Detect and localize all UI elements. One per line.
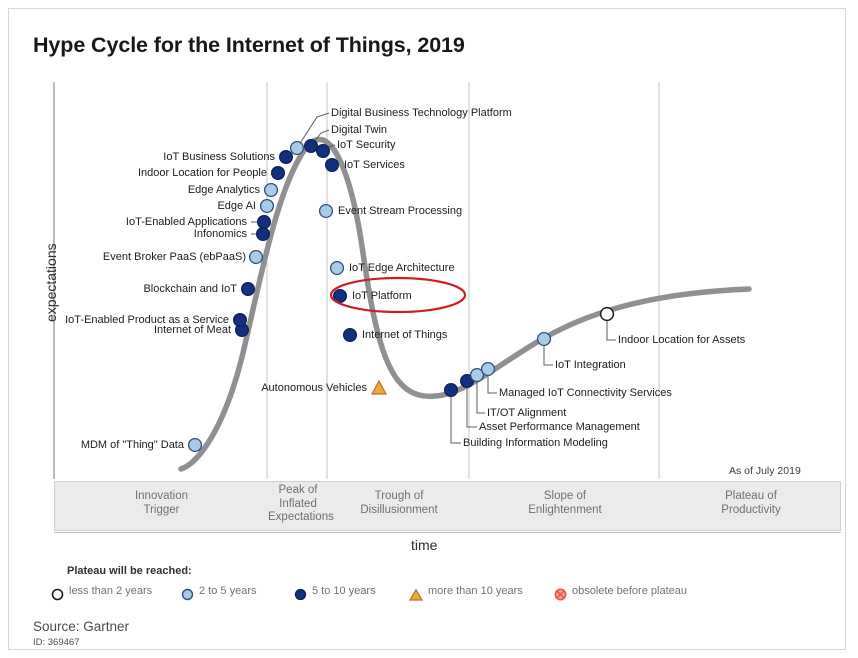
point-digital-twin xyxy=(305,140,318,153)
phase-slope-of-enlightenment: Slope of Enlightenment xyxy=(470,490,660,517)
hype-cycle-screenshot: Hype Cycle for the Internet of Things, 2… xyxy=(0,0,858,658)
point-iot-edge-architecture xyxy=(331,262,344,275)
page-title: Hype Cycle for the Internet of Things, 2… xyxy=(33,33,465,58)
legend-item-2-to-5-years: 2 to 5 years xyxy=(181,588,256,601)
point-edge-analytics xyxy=(265,184,278,197)
legend-item-obsolete-before-plateau: obsolete before plateau xyxy=(554,588,687,601)
circle-dark-icon xyxy=(294,588,307,601)
plot-area: expectations Digital Business Technology… xyxy=(29,77,841,547)
label-event-stream-processing: Event Stream Processing xyxy=(338,206,462,217)
point-event-broker-paas xyxy=(250,251,263,264)
label-edge-analytics: Edge Analytics xyxy=(29,185,260,196)
label-infonomics: Infonomics xyxy=(29,229,247,240)
point-blockchain-and-iot xyxy=(242,283,255,296)
point-iot-enabled-applications xyxy=(258,216,271,229)
label-iot-services: IoT Services xyxy=(344,160,405,171)
label-indoor-location-for-assets: Indoor Location for Assets xyxy=(618,335,745,346)
label-it-ot-alignment: IT/OT Alignment xyxy=(487,408,566,419)
label-blockchain-and-iot: Blockchain and IoT xyxy=(29,284,237,295)
point-managed-iot-connectivity-services xyxy=(482,363,495,376)
label-iot-enabled-applications: IoT-Enabled Applications xyxy=(29,217,247,228)
label-managed-iot-connectivity-services: Managed IoT Connectivity Services xyxy=(499,388,672,399)
label-internet-of-meat: Internet of Meat xyxy=(29,325,231,336)
label-autonomous-vehicles: Autonomous Vehicles xyxy=(244,383,367,394)
circle-hollow-icon xyxy=(51,588,64,601)
label-mdm-of-thing-data: MDM of "Thing" Data xyxy=(29,440,184,451)
point-mdm-of-thing-data xyxy=(189,439,202,452)
legend-title: Plateau will be reached: xyxy=(67,565,192,577)
point-iot-enabled-product-as-a-service xyxy=(234,314,247,327)
legend-item-more-than-10-years: more than 10 years xyxy=(409,588,523,601)
point-edge-ai xyxy=(261,200,274,213)
legend-item-less-than-2-years: less than 2 years xyxy=(51,588,152,601)
circle-light-icon xyxy=(181,588,194,601)
point-building-information-modeling xyxy=(445,384,458,397)
point-iot-business-solutions xyxy=(280,151,293,164)
point-digital-business-technology-platform xyxy=(291,142,304,155)
chart-frame: Hype Cycle for the Internet of Things, 2… xyxy=(8,8,846,650)
point-autonomous-vehicles xyxy=(372,381,386,394)
x-axis-title: time xyxy=(411,537,437,553)
legend-item-5-to-10-years: 5 to 10 years xyxy=(294,588,376,601)
phase-plateau-of-productivity: Plateau of Productivity xyxy=(660,490,842,517)
label-iot-platform: IoT Platform xyxy=(352,291,412,302)
label-asset-performance-management: Asset Performance Management xyxy=(479,422,640,433)
phase-band: Innovation Trigger Peak of Inflated Expe… xyxy=(54,481,841,531)
phase-peak-of-inflated-expectations: Peak of Inflated Expectations xyxy=(268,484,328,525)
point-iot-services xyxy=(326,159,339,172)
source-id: ID: 369467 xyxy=(33,637,79,648)
point-iot-security xyxy=(317,145,330,158)
label-iot-security: IoT Security xyxy=(337,140,396,151)
label-iot-integration: IoT Integration xyxy=(555,360,626,371)
phase-innovation-trigger: Innovation Trigger xyxy=(55,490,268,517)
label-iot-edge-architecture: IoT Edge Architecture xyxy=(349,263,455,274)
source-text: Source: Gartner xyxy=(33,619,129,634)
point-indoor-location-for-people xyxy=(272,167,285,180)
label-iot-business-solutions: IoT Business Solutions xyxy=(29,152,275,163)
point-infonomics xyxy=(257,228,270,241)
label-digital-business-technology-platform: Digital Business Technology Platform xyxy=(331,108,512,119)
label-digital-twin: Digital Twin xyxy=(331,125,387,136)
triangle-icon xyxy=(409,588,423,601)
x-axis-line xyxy=(54,532,841,533)
label-indoor-location-for-people: Indoor Location for People xyxy=(29,168,267,179)
label-building-information-modeling: Building Information Modeling xyxy=(463,438,608,449)
point-indoor-location-for-assets xyxy=(601,308,614,321)
point-iot-integration xyxy=(538,333,551,346)
label-edge-ai: Edge AI xyxy=(29,201,256,212)
hype-curve-svg xyxy=(29,77,841,547)
point-event-stream-processing xyxy=(320,205,333,218)
phase-trough-of-disillusionment: Trough of Disillusionment xyxy=(328,490,470,517)
as-of-date: As of July 2019 xyxy=(729,465,801,477)
circle-x-icon xyxy=(554,588,567,601)
label-event-broker-paas: Event Broker PaaS (ebPaaS) xyxy=(29,252,246,263)
point-internet-of-things xyxy=(344,329,357,342)
label-internet-of-things: Internet of Things xyxy=(362,330,447,341)
